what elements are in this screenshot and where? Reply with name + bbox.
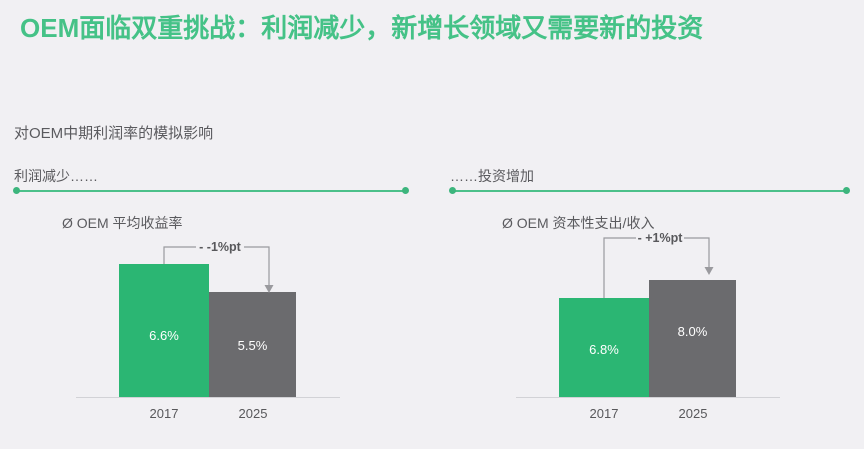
divider-dot-left-start	[13, 187, 20, 194]
x-axis-line	[76, 397, 340, 398]
chart-panel-capex: Ø OEM 资本性支出/收入 6.8% 8.0% - +1%pt 2017 20…	[470, 205, 864, 435]
bar-2025[interactable]: 8.0%	[649, 280, 736, 397]
delta-label: - -1%pt	[176, 240, 264, 254]
bar-value-2017: 6.8%	[559, 342, 649, 357]
section-divider-left	[16, 190, 405, 192]
divider-dot-right-end	[843, 187, 850, 194]
tick-label-2017: 2017	[119, 406, 209, 421]
bar-value-2017: 6.6%	[119, 328, 209, 343]
bar-2025[interactable]: 5.5%	[209, 292, 296, 397]
bar-value-2025: 8.0%	[649, 324, 736, 339]
section-label-investment-increase: ……投资增加	[450, 166, 534, 186]
delta-label: - +1%pt	[616, 231, 704, 245]
page-title: OEM面临双重挑战：利润减少，新增长领域又需要新的投资	[20, 10, 846, 46]
page-subtitle: 对OEM中期利润率的模拟影响	[14, 122, 213, 143]
tick-label-2025: 2025	[648, 406, 738, 421]
section-label-profit-decline: 利润减少……	[14, 166, 98, 186]
bar-value-2025: 5.5%	[209, 338, 296, 353]
chart-panel-margin: Ø OEM 平均收益率 6.6% 5.5% - -1%pt 2017 2025	[30, 205, 430, 435]
x-axis-line	[516, 397, 780, 398]
tick-label-2025: 2025	[208, 406, 298, 421]
divider-dot-left-end	[402, 187, 409, 194]
bar-2017[interactable]: 6.6%	[119, 264, 209, 397]
divider-dot-right-start	[449, 187, 456, 194]
bar-plot: 6.6% 5.5% - -1%pt 2017 2025	[30, 205, 430, 435]
bar-2017[interactable]: 6.8%	[559, 298, 649, 397]
section-divider-right	[452, 190, 846, 192]
bar-plot: 6.8% 8.0% - +1%pt 2017 2025	[470, 205, 864, 435]
tick-label-2017: 2017	[559, 406, 649, 421]
